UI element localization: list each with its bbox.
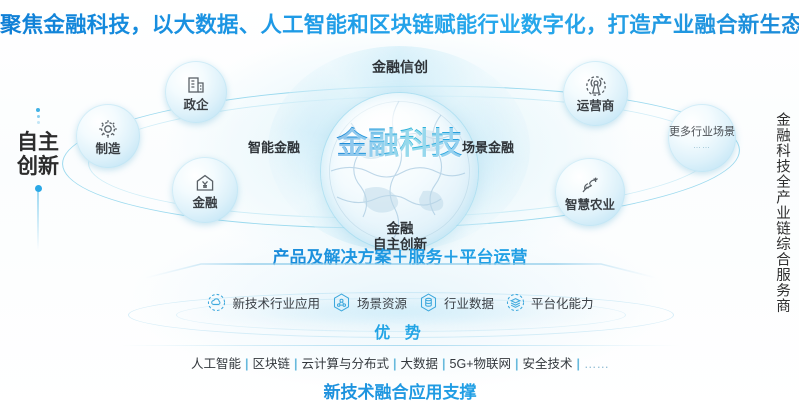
globe-label-bottom-line1: 金融 [387,221,414,236]
tech-item: 区块链 [252,357,290,371]
agriculture-icon [578,173,602,197]
database-icon [418,292,439,313]
node-label: 金融 [192,196,217,210]
node-label: 运营商 [577,99,615,113]
feature-label: 新技术行业应用 [232,293,320,312]
tech-separator: | [294,357,298,371]
right-rail-text: 金融科技全产业链综合服务商 [759,112,789,362]
node-label: 制造 [95,142,120,156]
globe-label-top: 金融信创 [300,57,500,77]
left-vertical-rail: 自主创新 [16,108,60,250]
tech-item: 人工智能 [191,357,241,371]
page-title: 聚焦金融科技，以大数据、人工智能和区块链赋能行业数字化，打造产业融合新生态 [0,8,799,39]
feature-item-scenario-resource[interactable]: 场景资源 [331,292,407,313]
left-rail-text: 自主创新 [16,131,60,180]
node-jinrong[interactable]: 金融 [172,157,238,223]
feature-item-platform-capability[interactable]: 平台化能力 [505,292,594,313]
infographic-canvas: 聚焦金融科技，以大数据、人工智能和区块链赋能行业数字化，打造产业融合新生态 自主… [0,0,799,413]
tech-separator: | [577,357,581,371]
node-more-scenarios[interactable]: 更多行业场景 …… [668,104,736,172]
tech-item: 云计算与分布式 [302,357,390,371]
feature-row: 新技术行业应用 场景资源 行业数据 平台 [150,289,650,315]
node-yunyingshang[interactable]: 运营商 [563,61,628,126]
gear-icon [96,117,120,141]
rail-tail-icon [16,185,60,250]
layers-icon [505,292,526,313]
tech-separator: | [515,357,519,371]
node-smart-agriculture[interactable]: 智慧农业 [555,158,625,226]
antenna-icon [584,74,608,98]
tech-ellipsis: …… [584,357,609,371]
tech-separator: | [393,357,397,371]
feature-item-industry-data[interactable]: 行业数据 [418,292,494,313]
node-zhengqi[interactable]: 政企 [165,61,227,123]
feature-label: 行业数据 [444,293,494,312]
globe-center-title: 金融科技 [321,118,478,163]
node-sublabel: …… [693,141,711,150]
advantage-label: 优 势 [150,319,650,343]
node-label: 更多行业场景 [669,126,735,140]
divider-line [120,345,680,346]
building-icon [184,73,208,97]
tech-separator: | [245,357,249,371]
tech-item: 安全技术 [523,357,573,371]
platform-shelf [143,262,659,280]
feature-label: 场景资源 [357,293,407,312]
tech-list: 人工智能|区块链|云计算与分布式|大数据|5G+物联网|安全技术|…… [100,353,700,372]
hex-node-icon [331,292,352,313]
globe-label-right: 场景金融 [462,137,514,156]
tech-item: 5G+物联网 [450,357,511,371]
node-label: 政企 [183,98,208,112]
globe-label-left: 智能金融 [248,137,300,156]
feature-label: 平台化能力 [531,293,594,312]
rail-dots-icon [16,108,60,124]
node-label: 智慧农业 [565,198,615,212]
feature-item-new-tech[interactable]: 新技术行业应用 [206,292,320,313]
node-zhizao[interactable]: 制造 [76,104,140,168]
bottom-support-label: 新技术融合应用支撑 [150,378,650,403]
tech-item: 大数据 [401,357,439,371]
tech-separator: | [442,357,446,371]
bank-yuan-icon [193,171,217,195]
cloud-circle-icon [206,292,227,313]
